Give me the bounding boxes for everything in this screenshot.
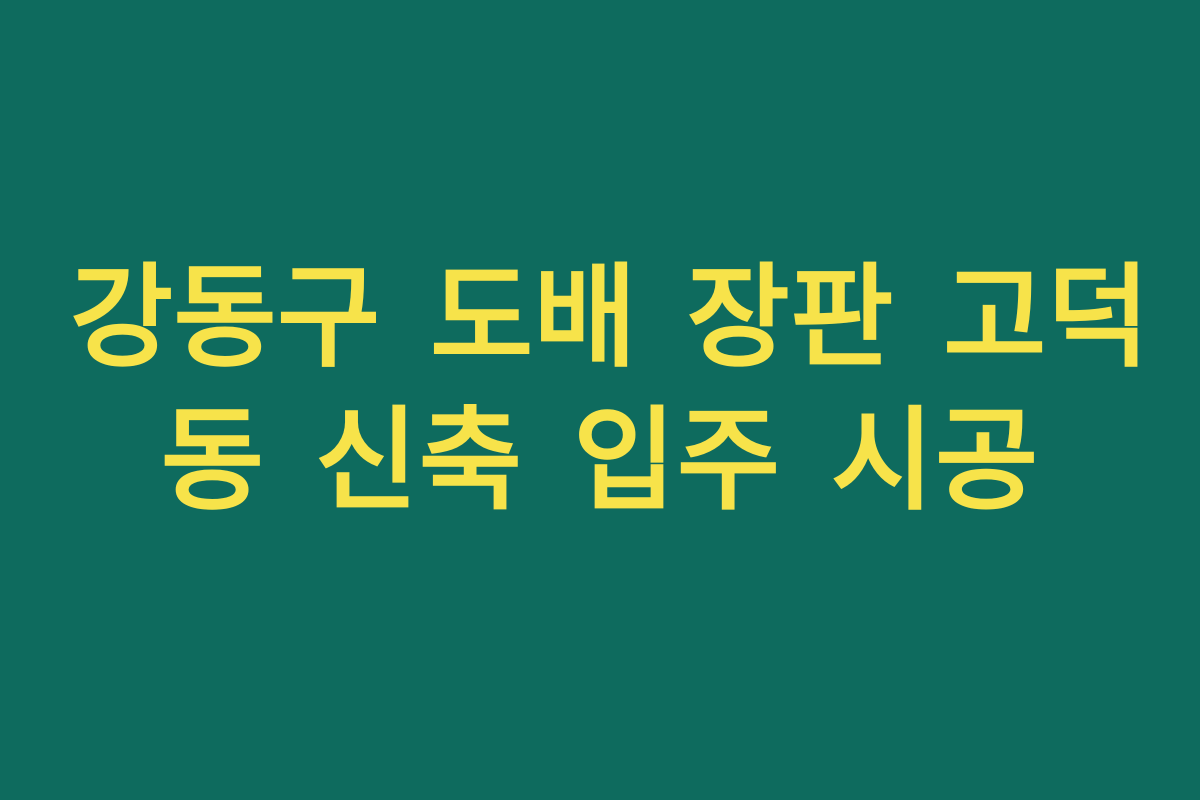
headline-line-2: 동 신축 입주 시공 [70, 390, 1130, 533]
headline-text-block: 강동구 도배 장판 고덕 동 신축 입주 시공 [70, 247, 1130, 533]
banner-canvas: 강동구 도배 장판 고덕 동 신축 입주 시공 [0, 0, 1200, 800]
headline-line-1: 강동구 도배 장판 고덕 [70, 247, 1130, 390]
